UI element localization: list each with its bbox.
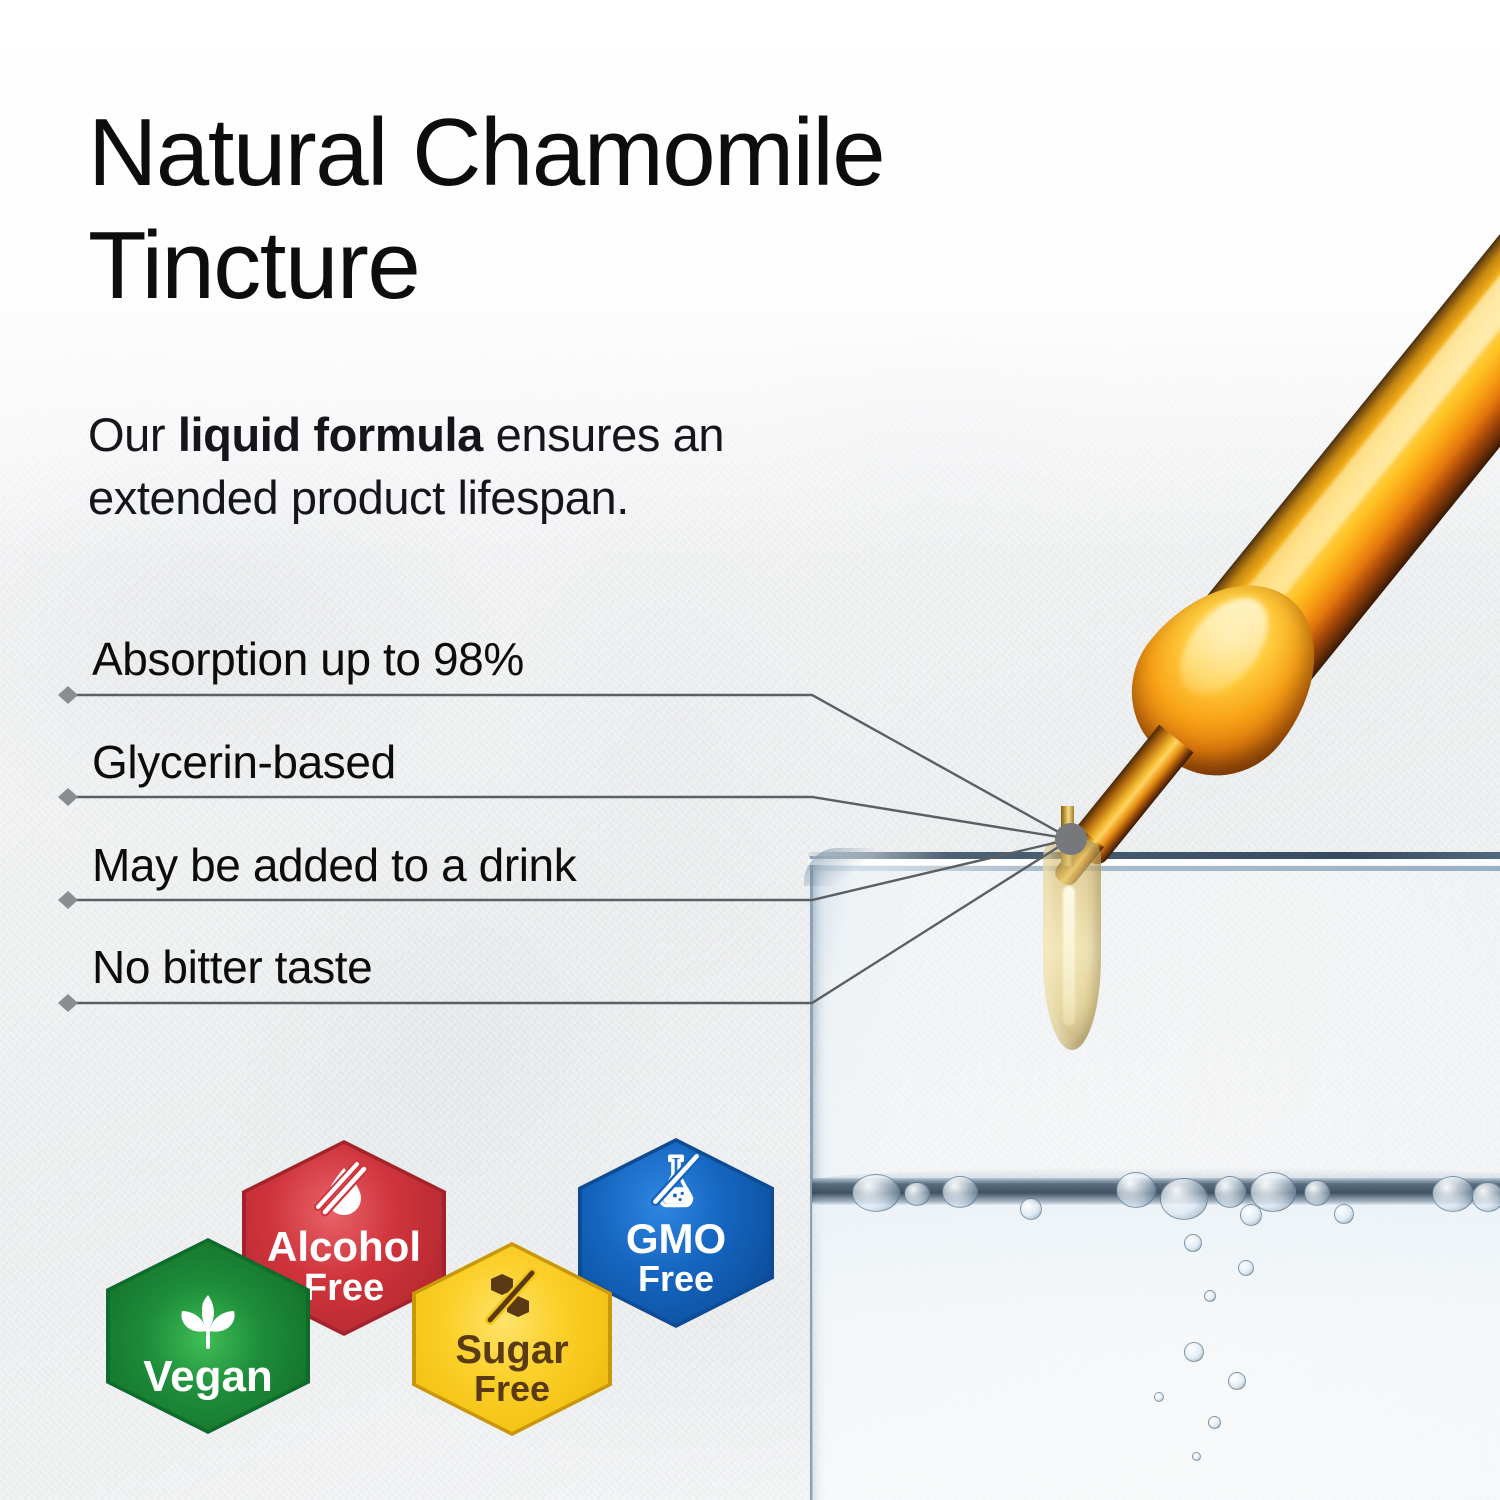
badge-gmo-free-line-2: Free bbox=[626, 1261, 726, 1298]
droplet-slash-icon bbox=[312, 1160, 376, 1224]
infographic-canvas: Natural Chamomile Tincture Our liquid fo… bbox=[0, 0, 1500, 1500]
badge-sugar-free-line-1: Sugar bbox=[455, 1330, 568, 1371]
badge-gmo-free-line-1: GMO bbox=[626, 1218, 726, 1261]
sugar-cubes-slash-icon bbox=[480, 1268, 544, 1328]
flask-slash-icon bbox=[643, 1148, 709, 1214]
badge-sugar-free-line-2: Free bbox=[455, 1371, 568, 1408]
badge-sugar-free[interactable]: Sugar Free bbox=[412, 1242, 612, 1436]
badge-vegan-line-1: Vegan bbox=[143, 1355, 273, 1400]
leaves-icon bbox=[172, 1291, 244, 1353]
certification-badges: GMO Free bbox=[0, 0, 1500, 1500]
badge-vegan[interactable]: Vegan bbox=[106, 1238, 310, 1434]
